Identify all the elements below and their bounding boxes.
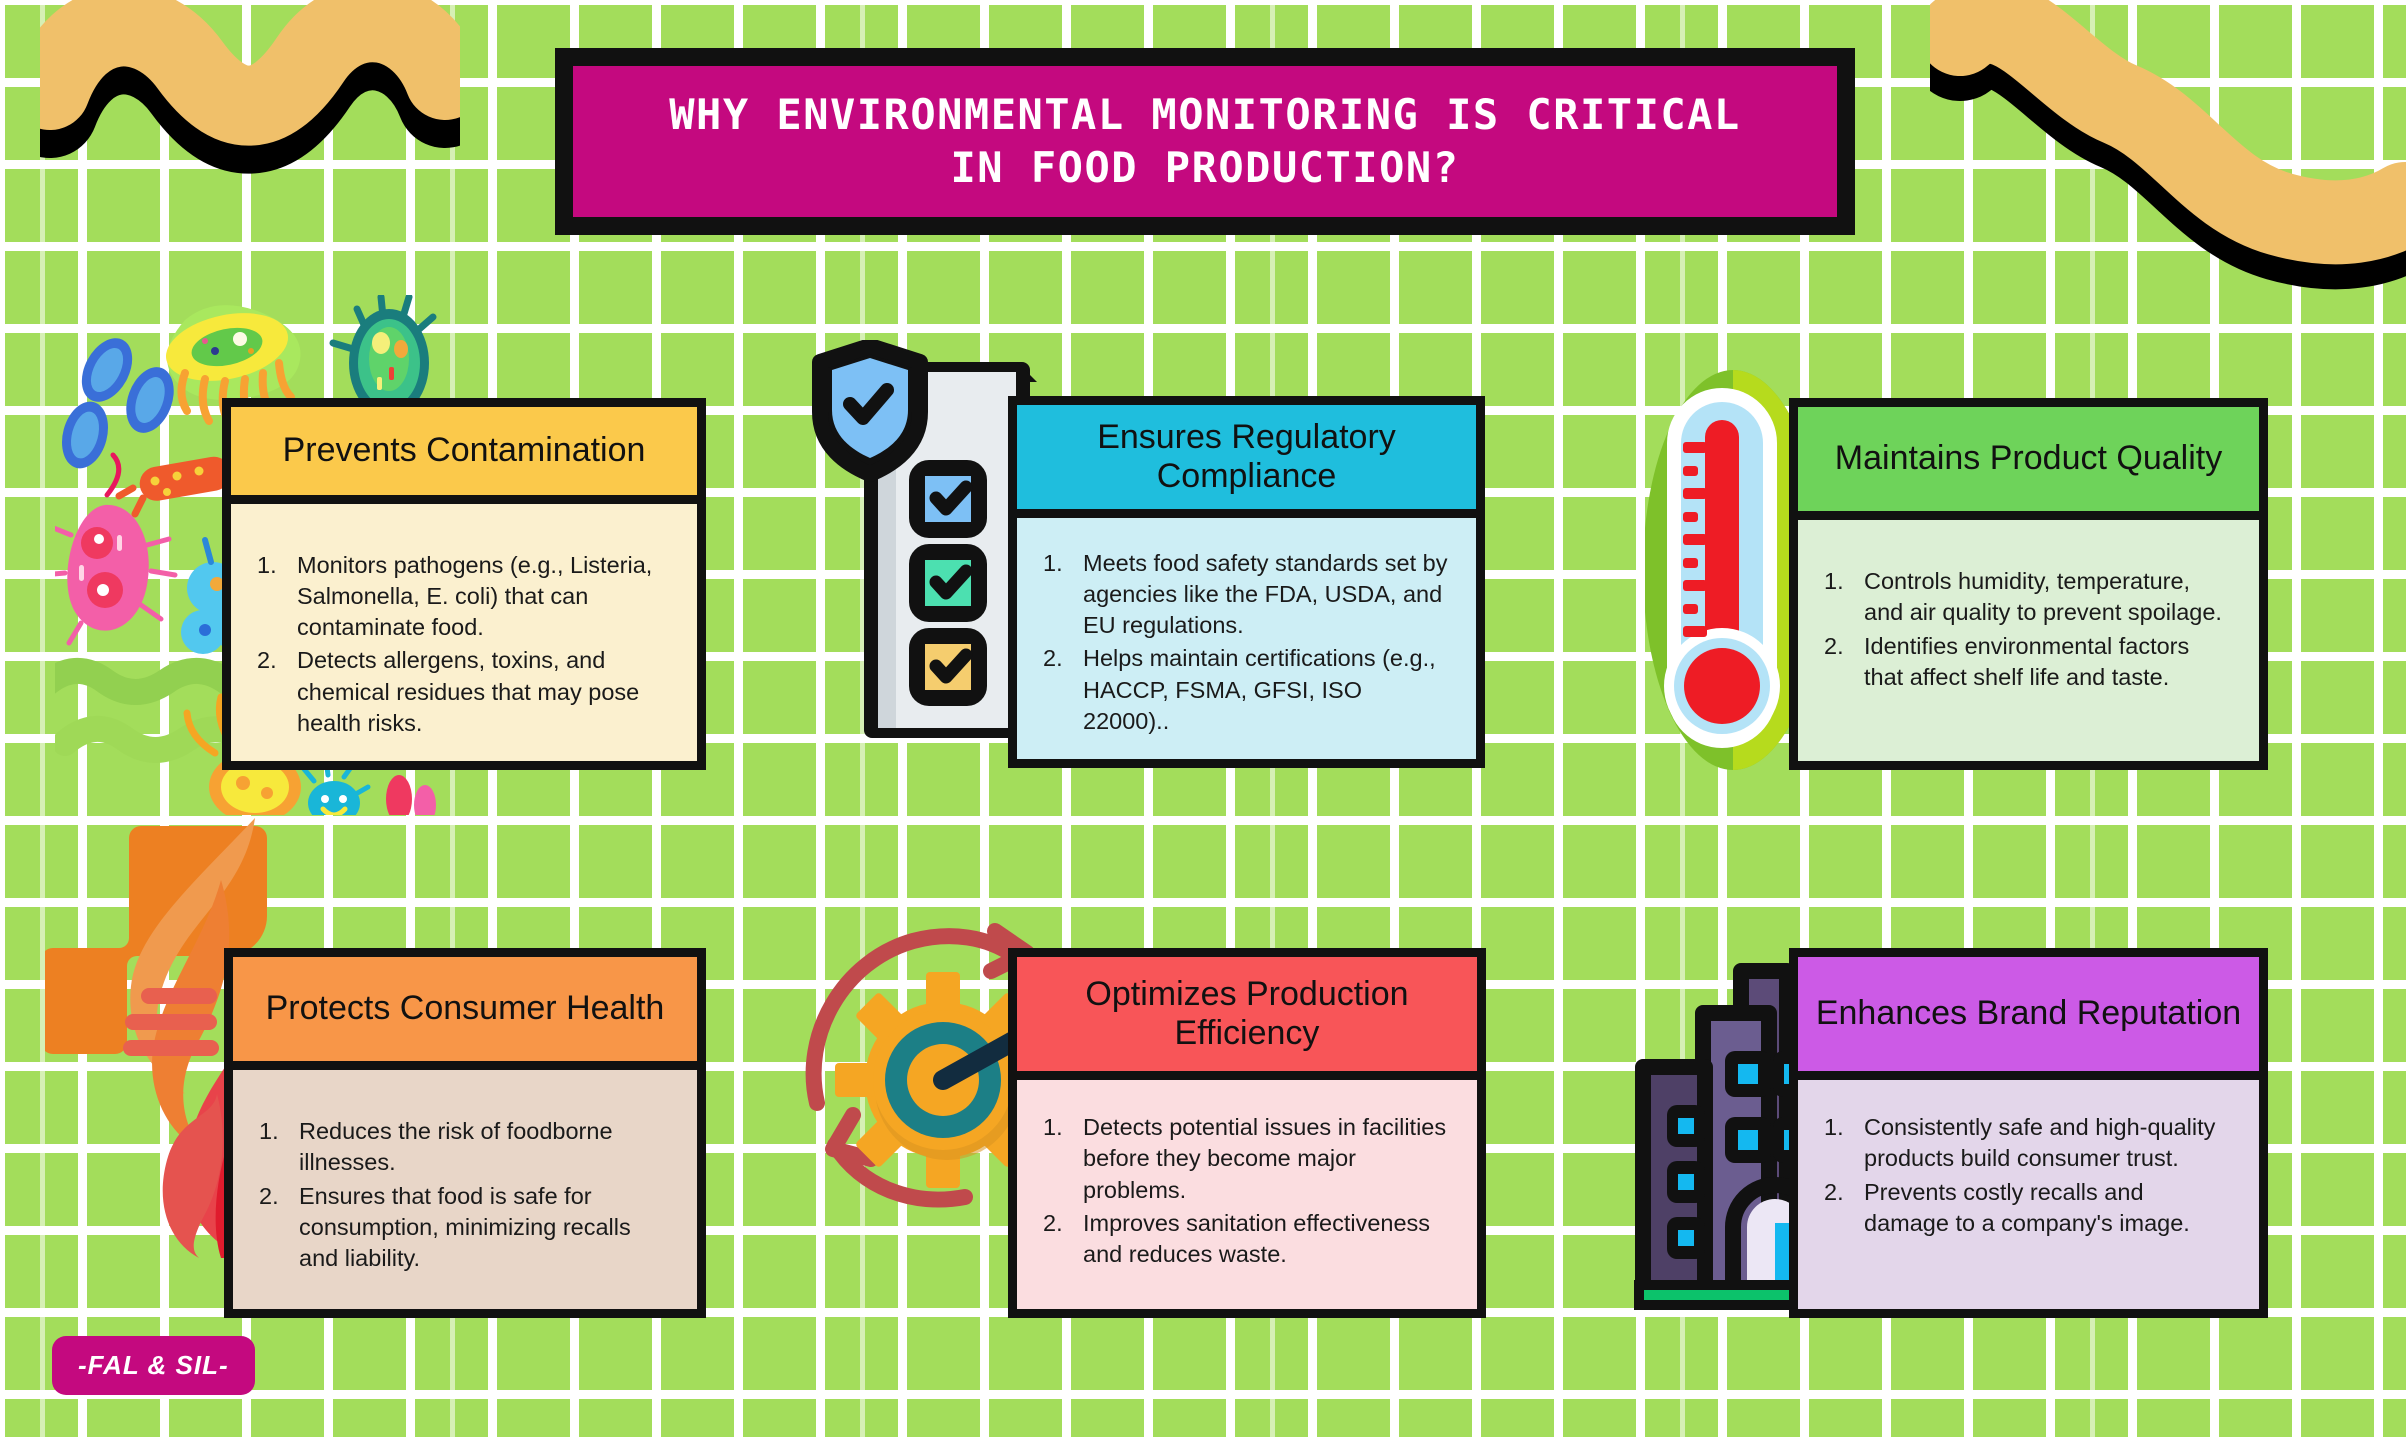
list-item: Consistently safe and high-quality produ… (1824, 1112, 2233, 1175)
card-inner: Optimizes Production Efficiency Detects … (1017, 957, 1477, 1309)
card-body: Meets food safety standards set by agenc… (1017, 518, 1476, 760)
card-points-list: Reduces the risk of foodborne illnesses.… (259, 1116, 671, 1274)
title-banner: WHY ENVIRONMENTAL MONITORING IS CRITICAL… (555, 48, 1855, 235)
card-title: Ensures Regulatory Compliance (1017, 405, 1476, 518)
card-points-list: Meets food safety standards set by agenc… (1043, 548, 1450, 738)
card-inner: Ensures Regulatory Compliance Meets food… (1017, 405, 1476, 759)
list-item: Ensures that food is safe for consumptio… (259, 1181, 671, 1275)
list-item: Helps maintain certifications (e.g., HAC… (1043, 643, 1450, 737)
card-protects-consumer-health[interactable]: Protects Consumer Health Reduces the ris… (224, 948, 706, 1318)
card-points-list: Consistently safe and high-quality produ… (1824, 1112, 2233, 1239)
card-inner: Protects Consumer Health Reduces the ris… (233, 957, 697, 1309)
card-inner: Maintains Product Quality Controls humid… (1798, 407, 2259, 761)
credit-badge: -FAL & SIL- (52, 1336, 255, 1395)
page-title: WHY ENVIRONMENTAL MONITORING IS CRITICAL… (669, 89, 1740, 194)
card-title: Protects Consumer Health (233, 957, 697, 1070)
list-item: Prevents costly recalls and damage to a … (1824, 1177, 2233, 1240)
card-title: Enhances Brand Reputation (1798, 957, 2259, 1080)
list-item: Meets food safety standards set by agenc… (1043, 548, 1450, 642)
card-body: Reduces the risk of foodborne illnesses.… (233, 1070, 697, 1309)
card-body: Monitors pathogens (e.g., Listeria, Salm… (231, 504, 697, 762)
card-enhances-brand-reputation[interactable]: Enhances Brand Reputation Consistently s… (1789, 948, 2268, 1318)
card-inner: Enhances Brand Reputation Consistently s… (1798, 957, 2259, 1309)
card-body: Detects potential issues in facilities b… (1017, 1080, 1477, 1309)
list-item: Detects potential issues in facilities b… (1043, 1112, 1451, 1206)
list-item: Identifies environmental factors that af… (1824, 631, 2233, 694)
list-item: Reduces the risk of foodborne illnesses. (259, 1116, 671, 1179)
card-maintains-product-quality[interactable]: Maintains Product Quality Controls humid… (1789, 398, 2268, 770)
title-banner-inner: WHY ENVIRONMENTAL MONITORING IS CRITICAL… (573, 66, 1837, 217)
card-body: Consistently safe and high-quality produ… (1798, 1080, 2259, 1309)
list-item: Detects allergens, toxins, and chemical … (257, 645, 671, 739)
card-title: Maintains Product Quality (1798, 407, 2259, 520)
list-item: Improves sanitation effectiveness and re… (1043, 1208, 1451, 1271)
card-optimizes-production-efficiency[interactable]: Optimizes Production Efficiency Detects … (1008, 948, 1486, 1318)
list-item: Monitors pathogens (e.g., Listeria, Salm… (257, 550, 671, 644)
card-points-list: Monitors pathogens (e.g., Listeria, Salm… (257, 550, 671, 740)
list-item: Controls humidity, temperature, and air … (1824, 566, 2233, 629)
card-points-list: Detects potential issues in facilities b… (1043, 1112, 1451, 1270)
card-ensures-regulatory-compliance[interactable]: Ensures Regulatory Compliance Meets food… (1008, 396, 1485, 768)
card-title: Optimizes Production Efficiency (1017, 957, 1477, 1080)
card-points-list: Controls humidity, temperature, and air … (1824, 566, 2233, 693)
card-prevents-contamination[interactable]: Prevents Contamination Monitors pathogen… (222, 398, 706, 770)
card-title: Prevents Contamination (231, 407, 697, 504)
card-body: Controls humidity, temperature, and air … (1798, 520, 2259, 761)
card-inner: Prevents Contamination Monitors pathogen… (231, 407, 697, 761)
